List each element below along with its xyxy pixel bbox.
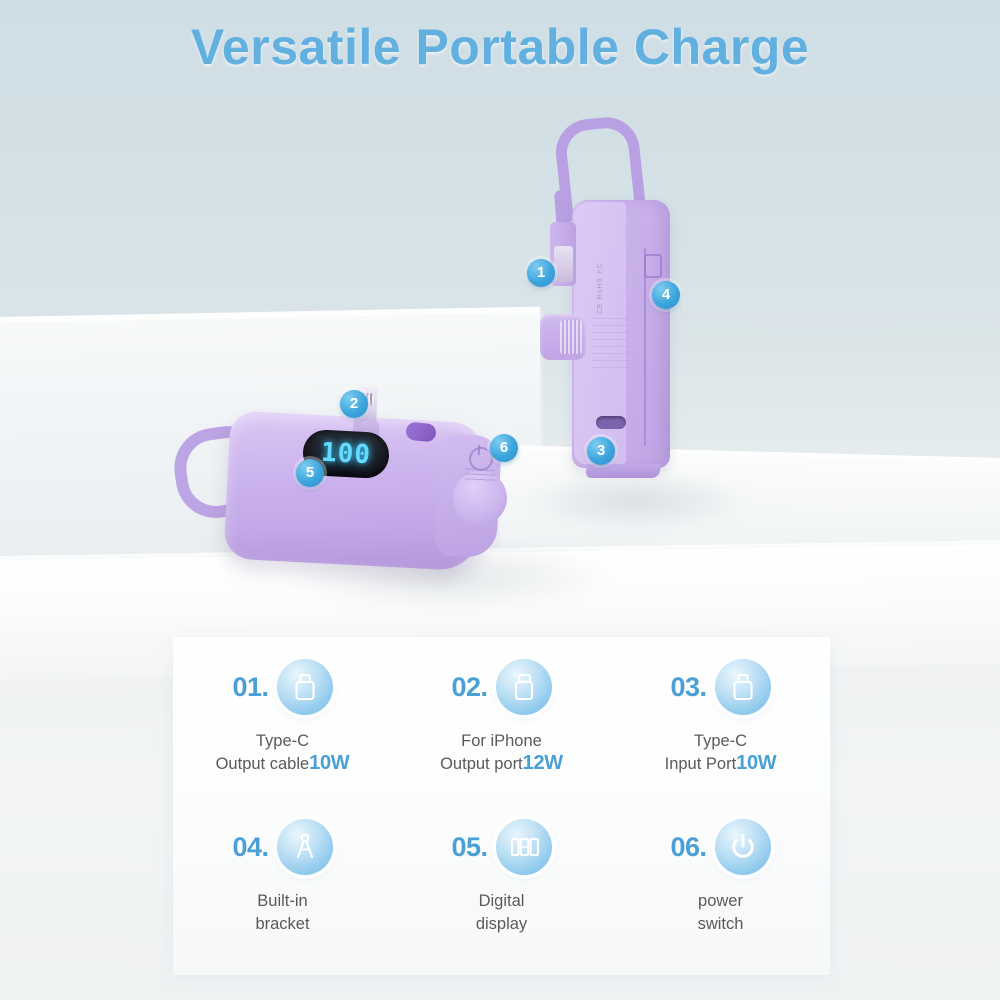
- kickstand-foot: [585, 464, 661, 478]
- feature-line-2: Output cable: [216, 755, 310, 773]
- feature-caption: Type-C Output cable10W: [216, 730, 350, 775]
- power-switch-icon: [715, 819, 771, 875]
- feature-line-1: power: [698, 890, 744, 912]
- feature-number: 04.: [232, 832, 268, 863]
- feature-number: 01.: [232, 672, 268, 703]
- callout-badge-6: 6: [490, 434, 518, 462]
- digital-display-icon: [496, 819, 552, 875]
- feature-line-1: Type-C: [665, 730, 777, 752]
- callout-badge-5: 5: [296, 459, 324, 487]
- lightning-plug-icon: [496, 659, 552, 715]
- feature-item-01[interactable]: 01. Type-C Output cable10W: [173, 648, 392, 808]
- kickstand-tab: [644, 254, 662, 278]
- accent-button: [405, 421, 437, 442]
- feature-line-1: For iPhone: [440, 730, 563, 752]
- feature-line-2: Output port: [440, 755, 523, 773]
- spec-text-block: [592, 318, 628, 372]
- feature-power: 12W: [523, 752, 563, 774]
- product-infographic: Versatile Portable Charge CE RoHS FC 100: [0, 0, 1000, 1000]
- feature-item-05[interactable]: 05. Digital display: [392, 808, 611, 968]
- feature-item-02[interactable]: 02. For iPhone Output port12W: [392, 648, 611, 808]
- power-switch-label-lines: [465, 468, 496, 482]
- feature-line-1: Built-in: [255, 890, 309, 912]
- feature-number: 06.: [670, 832, 706, 863]
- feature-power: 10W: [736, 752, 776, 774]
- feature-power: 10W: [309, 752, 349, 774]
- feature-caption: For iPhone Output port12W: [440, 730, 563, 775]
- feature-line-2: switch: [698, 915, 744, 933]
- knob-grip-ribs: [560, 320, 582, 354]
- callout-badge-2: 2: [340, 390, 368, 418]
- feature-item-06[interactable]: 06. power switch: [611, 808, 830, 968]
- feature-caption: Built-in bracket: [255, 890, 309, 935]
- usb-plug-icon: [715, 659, 771, 715]
- callout-badge-4: 4: [652, 281, 680, 309]
- feature-caption: Digital display: [476, 890, 527, 935]
- type-c-cable-tip: [554, 246, 573, 282]
- type-c-input-port: [596, 416, 626, 429]
- feature-caption: power switch: [698, 890, 744, 935]
- shadow-standing-unit: [520, 470, 750, 530]
- page-title: Versatile Portable Charge: [0, 18, 1000, 76]
- feature-grid: 01. Type-C Output cable10W 02.: [173, 648, 830, 968]
- feature-line-2: Input Port: [665, 755, 737, 773]
- feature-item-04[interactable]: 04. Built-in bracket: [173, 808, 392, 968]
- feature-item-03[interactable]: 03. Type-C Input Port10W: [611, 648, 830, 808]
- bracket-compass-icon: [277, 819, 333, 875]
- feature-line-2: display: [476, 915, 527, 933]
- feature-number: 03.: [670, 672, 706, 703]
- callout-badge-1: 1: [527, 259, 555, 287]
- callout-badge-3: 3: [587, 437, 615, 465]
- feature-caption: Type-C Input Port10W: [665, 730, 777, 775]
- feature-line-2: bracket: [255, 915, 309, 933]
- usb-plug-icon: [277, 659, 333, 715]
- feature-number: 05.: [451, 832, 487, 863]
- feature-number: 02.: [451, 672, 487, 703]
- feature-line-1: Type-C: [216, 730, 350, 752]
- feature-line-1: Digital: [476, 890, 527, 912]
- certification-marks: CE RoHS FC: [596, 218, 610, 314]
